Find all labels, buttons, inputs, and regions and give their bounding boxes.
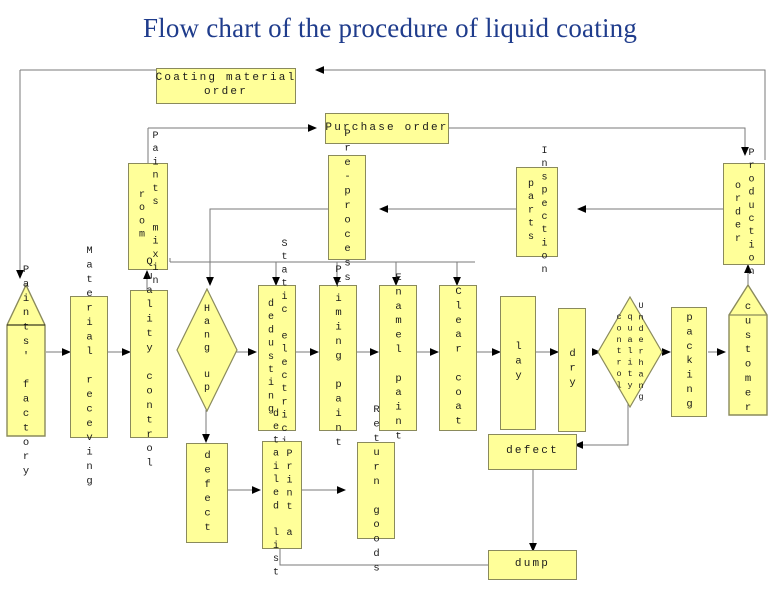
node-customer[interactable]: customer xyxy=(728,283,768,417)
dump-label: dump xyxy=(515,558,550,572)
node-paints-mixing-room[interactable]: Paints mixing room xyxy=(128,163,168,270)
node-lay[interactable]: lay xyxy=(500,296,536,430)
node-packing[interactable]: packing xyxy=(671,307,707,417)
enamel-paint-label: Enamel paint xyxy=(391,272,404,445)
flowchart-canvas: Flow chart of the procedure of liquid co… xyxy=(0,0,780,591)
packing-label: packing xyxy=(682,312,695,413)
dry-label: dry xyxy=(565,348,578,391)
node-priming-paint[interactable]: Priming paint xyxy=(319,285,357,431)
page-title: Flow chart of the procedure of liquid co… xyxy=(0,13,780,44)
coating-material-order-line2: order xyxy=(156,86,297,100)
node-production-order[interactable]: Production order xyxy=(723,163,765,265)
customer-shape xyxy=(728,283,768,417)
inspection-parts-line2: parts xyxy=(524,179,537,245)
material-receving-label: Material receving xyxy=(82,245,95,490)
defect-right-label: defect xyxy=(506,445,559,459)
underhang-quality-control-shape xyxy=(597,296,663,408)
defect-left-label: defect xyxy=(200,450,213,536)
node-underhang-quality-control[interactable]: Underhang quality control xyxy=(597,296,663,408)
node-defect-right[interactable]: defect xyxy=(488,434,577,470)
paints-mixing-room-line2: room xyxy=(135,190,148,243)
quality-control-label: Quality control xyxy=(142,256,155,472)
print-list-line1: Print a xyxy=(283,449,296,541)
production-order-line2: order xyxy=(731,181,744,247)
static-dedusting-line2: dedusting xyxy=(264,299,277,418)
return-goods-label: Return goods xyxy=(369,404,382,577)
wire-preprocess-to-hangup xyxy=(210,209,328,285)
node-hang-up[interactable]: Hang up xyxy=(176,288,238,412)
clear-coat-label: Clear coat xyxy=(451,286,464,430)
node-clear-coat[interactable]: Clear coat xyxy=(439,285,477,431)
node-print-a-detailed-list[interactable]: Print a detailed list xyxy=(262,441,302,549)
node-pre-process[interactable]: Pre-process xyxy=(328,155,366,260)
lay-label: lay xyxy=(511,341,524,384)
node-enamel-paint[interactable]: Enamel paint xyxy=(379,285,417,431)
hang-up-shape xyxy=(176,288,238,412)
node-paints-factory[interactable]: Paints' factory xyxy=(6,283,46,438)
node-defect-left[interactable]: defect xyxy=(186,443,228,543)
node-coating-material-order[interactable]: Coating material order xyxy=(156,68,296,104)
print-list-line2: detailed list xyxy=(269,409,282,581)
node-inspection-parts[interactable]: Inspection parts xyxy=(516,167,558,257)
node-dump[interactable]: dump xyxy=(488,550,577,580)
production-order-line1: Production xyxy=(745,148,758,280)
inspection-parts-line1: Inspection xyxy=(538,146,551,278)
pre-process-label: Pre-process xyxy=(340,128,353,286)
priming-paint-label: Priming paint xyxy=(331,264,344,451)
node-quality-control[interactable]: Quality control xyxy=(130,290,168,438)
paints-factory-shape xyxy=(6,283,46,438)
node-return-goods[interactable]: Return goods xyxy=(357,442,395,539)
wire-purchase-to-production xyxy=(449,128,745,155)
node-dry[interactable]: dry xyxy=(558,308,586,432)
node-material-receving[interactable]: Material receving xyxy=(70,296,108,438)
coating-material-order-line1: Coating material xyxy=(156,72,297,86)
